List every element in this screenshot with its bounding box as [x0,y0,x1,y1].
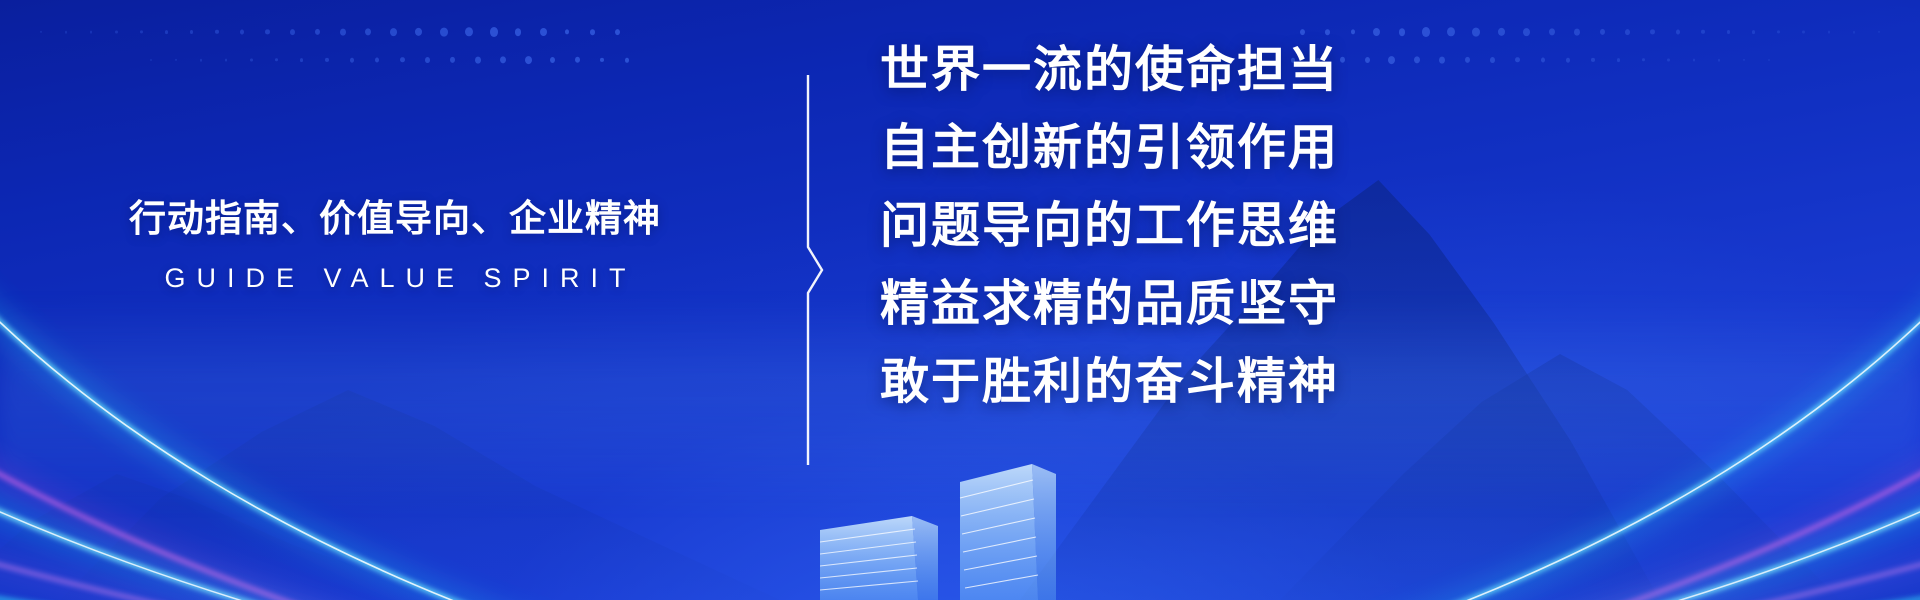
dot [150,59,152,61]
dot [1853,31,1855,34]
dot-row [1260,20,1880,44]
dot [65,31,67,34]
dot [1752,30,1755,34]
left-text-block: 行动指南、价值导向、企业精神 GUIDE VALUE SPIRIT [0,196,790,295]
dot [575,57,580,63]
dot [115,30,118,33]
dot [1566,58,1570,63]
dot-pattern-left [40,0,660,70]
dot [250,58,253,61]
left-subtitle: GUIDE VALUE SPIRIT [0,262,790,294]
dot [365,28,371,35]
dot [1373,28,1380,36]
dot [1718,59,1720,62]
dot [1642,58,1645,61]
dot [1693,59,1695,62]
dot [1523,28,1530,36]
dot [1828,31,1830,34]
dot [1650,29,1655,34]
dot [425,57,430,63]
dot [550,57,555,63]
dot [190,30,193,34]
arc-group-left [0,250,800,600]
dot-row [40,20,660,44]
dot [1802,30,1805,33]
dot [565,29,569,34]
dot [265,29,270,34]
dot [1878,31,1880,33]
dot [1768,59,1770,61]
dot [1676,30,1680,35]
building-left [820,516,938,600]
dot [1300,29,1305,35]
dot [1498,28,1505,36]
dot [300,58,303,62]
chevron-right-notch-icon [805,75,827,465]
dot [140,30,143,33]
dot [475,57,481,64]
dot [525,56,532,64]
dot [1600,29,1605,35]
mountain-silhouette-left [60,300,780,600]
dot [375,58,379,63]
dot [1447,27,1455,36]
dot [1325,29,1330,35]
dot [515,28,521,36]
dot [1667,58,1670,61]
dot [1414,56,1420,63]
dot [240,30,244,35]
dot [200,59,202,62]
dot [1625,29,1630,35]
dot [1574,29,1580,36]
dot [1465,57,1470,63]
dot [1422,27,1430,37]
slogan-line: 敢于胜利的奋斗精神 [880,358,1400,407]
dot [465,27,473,36]
dot [1473,28,1481,37]
dot [1515,57,1520,62]
dot [1701,30,1705,34]
mountain-silhouette-far-left [0,390,460,600]
dot [440,28,448,37]
dot [625,58,629,63]
dot [275,58,278,61]
dot [500,56,506,63]
right-slogan-block: 世界一流的使命担当自主创新的引领作用问题导向的工作思维精益求精的品质坚守敢于胜利… [880,46,1400,407]
dot [450,57,455,63]
dot [390,28,397,36]
buildings-svg [820,430,1120,600]
dot [350,58,354,63]
dot [1541,58,1545,63]
dot [340,29,346,36]
dot [175,59,177,61]
dot [540,28,547,36]
dot [1549,28,1555,35]
dot [1591,58,1595,62]
dot [490,27,498,37]
dot [1351,29,1355,34]
dot [290,29,295,35]
slogan-line: 问题导向的工作思维 [880,202,1400,251]
building-silhouettes [820,430,1120,600]
dot [225,59,227,62]
dot [1727,30,1730,34]
dot [415,28,422,36]
dot [215,30,219,34]
culture-banner: 行动指南、价值导向、企业精神 GUIDE VALUE SPIRIT 世界一流的使… [0,0,1920,600]
dot [165,30,168,34]
slogan-line: 世界一流的使命担当 [880,46,1400,95]
dot [1490,57,1495,63]
dot [1399,28,1405,36]
dot [600,58,604,62]
slogan-line: 自主创新的引领作用 [880,124,1400,173]
dot [1743,59,1745,61]
dot [1777,30,1780,33]
dot [590,29,595,35]
dot [615,29,620,35]
dot [400,57,405,62]
dot [90,31,92,34]
building-right [960,464,1056,600]
dot [1617,58,1620,62]
dot [40,31,42,33]
slogan-line: 精益求精的品质坚守 [880,280,1400,329]
dot [1439,57,1445,64]
vertical-divider [805,75,827,465]
dot [315,29,320,35]
dot-row [40,48,660,72]
left-title: 行动指南、价值导向、企业精神 [0,196,790,242]
dot [325,58,329,62]
